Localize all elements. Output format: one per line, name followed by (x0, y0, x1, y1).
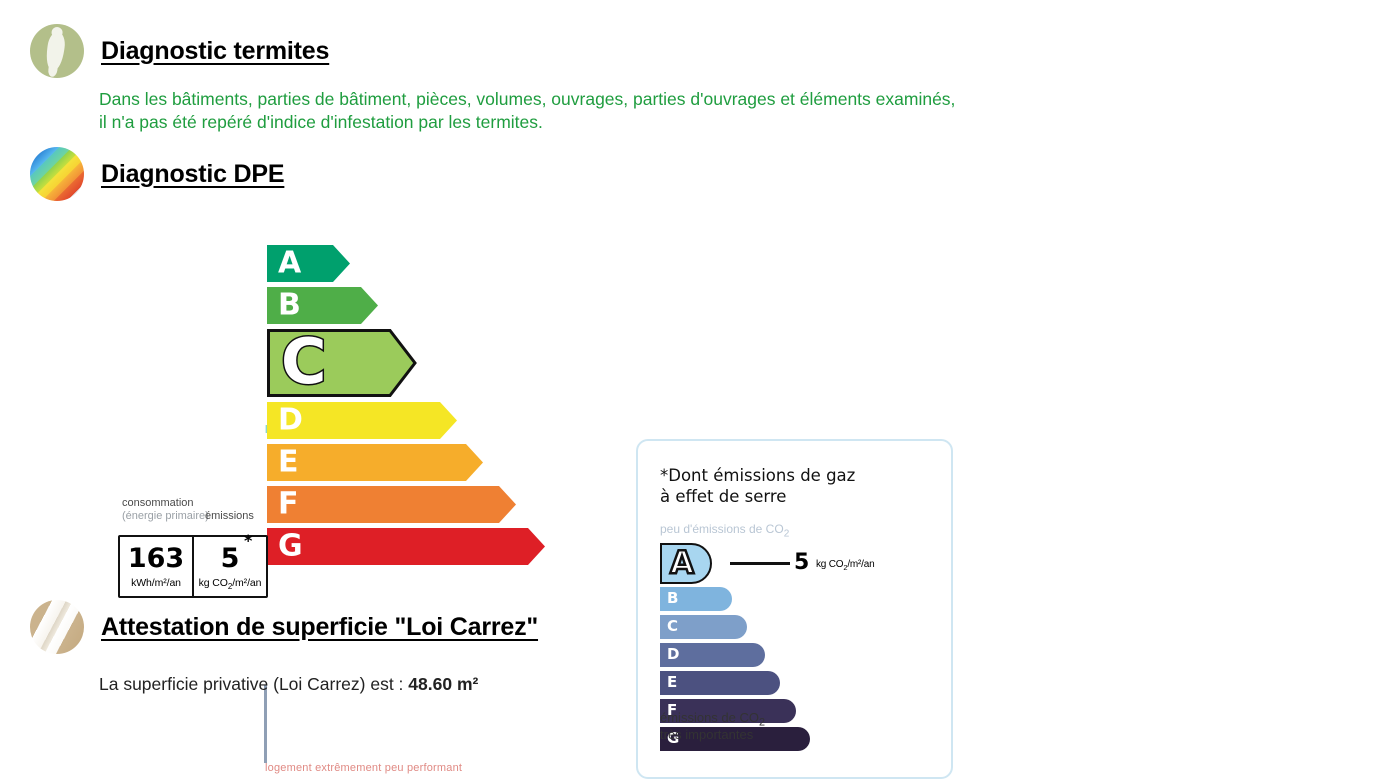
carrez-title: Attestation de superficie "Loi Carrez" (101, 613, 538, 642)
consumption-value: 163 (128, 545, 184, 572)
dpe-rainbow-icon (30, 147, 84, 201)
carrez-header: Attestation de superficie "Loi Carrez" (30, 600, 538, 654)
energy-bar-label-A: A (278, 248, 301, 278)
ghg-unit: kg CO2/m²/an (816, 559, 874, 570)
energy-bar-label-D: D (278, 405, 303, 435)
arrow-shape-E (267, 444, 483, 481)
termites-title: Diagnostic termites (101, 37, 329, 66)
ghg-note: *Dont émissions de gaz à effet de serre (660, 465, 855, 507)
energy-values-box: 163 kWh/m²/an 5* kg CO2/m²/an (118, 535, 268, 598)
ghg-bar-label-C: C (667, 619, 678, 634)
energy-bar-A: A (267, 245, 350, 282)
energy-bar-D: D (267, 402, 457, 439)
ghg-bar-shape-E (660, 671, 780, 695)
energy-bar-label-B: B (278, 290, 301, 320)
energy-bar-label-G: G (278, 531, 303, 561)
dpe-header: Diagnostic DPE (30, 147, 284, 201)
carrez-ruler-icon (30, 600, 84, 654)
ghg-value: 5 (794, 550, 809, 575)
section-termites: Diagnostic termites (30, 24, 329, 78)
energy-bar-label-C: C (281, 331, 327, 393)
termite-icon (30, 24, 84, 78)
emissions-value-cell: 5* kg CO2/m²/an (192, 537, 266, 596)
ghg-bar-label-E: E (667, 675, 677, 690)
energy-bar-F: F (267, 486, 516, 523)
arrow-shape-G (267, 528, 545, 565)
carrez-value: 48.60 m² (408, 674, 478, 694)
energy-bar-C: C (267, 329, 417, 397)
energy-bar-label-F: F (278, 489, 299, 519)
carrez-text-prefix: La superficie privative (Loi Carrez) est… (99, 674, 408, 694)
ghg-bar-label-A: A (670, 547, 694, 578)
dpe-report-page: Diagnostic termites Dans les bâtiments, … (0, 0, 1400, 722)
dpe-charts: logement extrêmement performant logement… (0, 205, 1400, 590)
energy-bar-group: A B C D (0, 205, 700, 590)
termites-text-line1: Dans les bâtiments, parties de bâtiment,… (99, 88, 955, 111)
energy-bar-E: E (267, 444, 483, 481)
carrez-text: La superficie privative (Loi Carrez) est… (99, 673, 478, 696)
ghg-bar-label-D: D (667, 647, 679, 662)
ghg-leader-line (730, 562, 790, 565)
section-carrez: Attestation de superficie "Loi Carrez" (30, 600, 538, 654)
energy-left-rule (264, 685, 267, 763)
emissions-unit: kg CO2/m²/an (199, 577, 262, 589)
emissions-label: émissions (205, 510, 254, 522)
consumption-unit: kWh/m²/an (131, 577, 181, 589)
consumption-label: consommation (énergie primaire) (122, 497, 209, 523)
dpe-title: Diagnostic DPE (101, 160, 284, 189)
ghg-bar-label-B: B (667, 591, 678, 606)
energy-bottom-caption: logement extrêmement peu performant (265, 762, 462, 774)
ghg-top-caption: peu d'émissions de CO2 (660, 522, 789, 536)
section-dpe: Diagnostic DPE (30, 147, 284, 201)
consumption-value-cell: 163 kWh/m²/an (120, 537, 192, 596)
energy-bar-label-E: E (278, 447, 299, 477)
termites-header: Diagnostic termites (30, 24, 329, 78)
ghg-panel: *Dont émissions de gaz à effet de serre … (636, 439, 953, 779)
ghg-bottom-caption: émissions de CO2 très importantes (660, 709, 765, 743)
termites-text-line2: il n'a pas été repéré d'indice d'infesta… (99, 111, 543, 134)
energy-bar-G: G (267, 528, 545, 565)
energy-bar-B: B (267, 287, 378, 324)
arrow-shape-F (267, 486, 516, 523)
emissions-value: 5* (221, 545, 240, 572)
